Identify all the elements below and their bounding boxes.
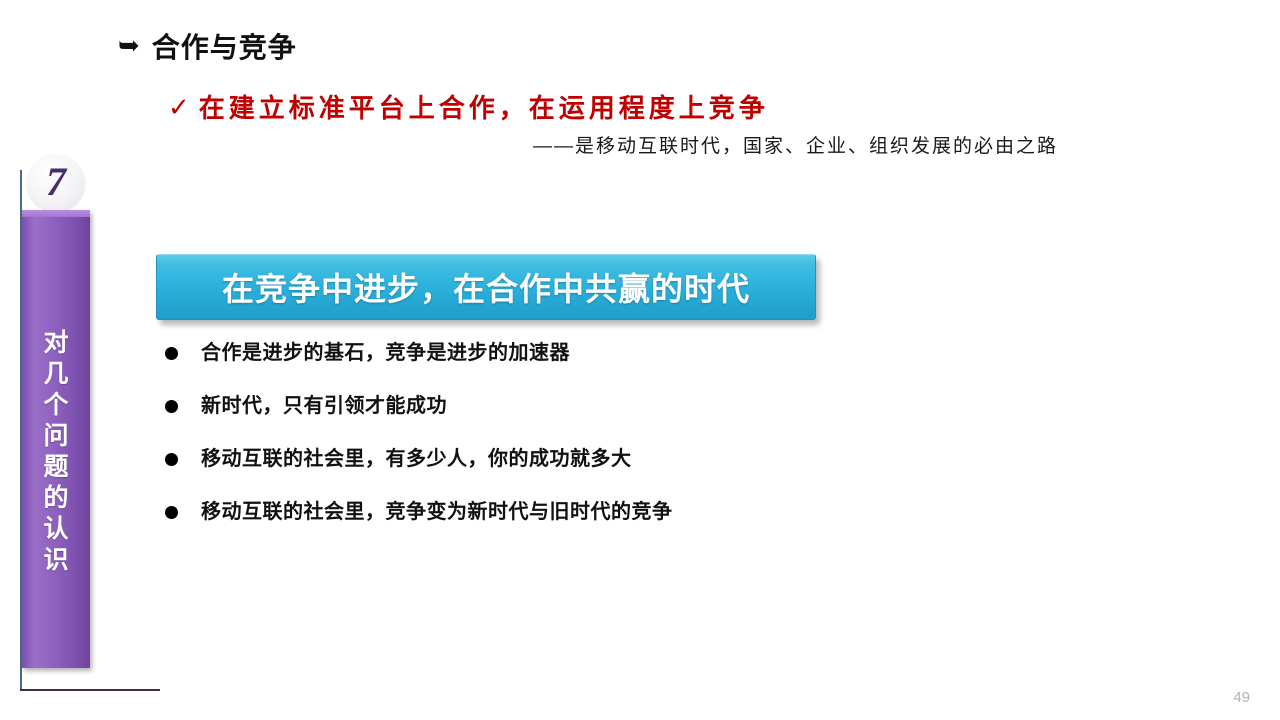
list-item: 新时代，只有引领才能成功: [165, 393, 865, 446]
slide-canvas: 7 对 几 个 问 题 的 认 识 ➥ 合作与竞争 ✓ 在建立标准平台上合作，在…: [0, 0, 1280, 720]
sidebar-section-bar: 对 几 个 问 题 的 认 识: [22, 210, 90, 668]
subtitle-note: ——是移动互联时代，国家、企业、组织发展的必由之路: [533, 131, 1058, 158]
bullet-dot-icon: [165, 347, 178, 360]
list-item: 移动互联的社会里，有多少人，你的成功就多大: [165, 446, 865, 499]
sidebar-section-label: 对 几 个 问 题 的 认 识: [22, 328, 90, 576]
list-item: 合作是进步的基石，竞争是进步的加速器: [165, 340, 865, 393]
bottom-rail-horizontal-line: [20, 689, 160, 691]
highlight-banner-text: 在竞争中进步，在合作中共赢的时代: [222, 264, 750, 310]
list-item: 移动互联的社会里，竞争变为新时代与旧时代的竞争: [165, 499, 865, 552]
section-number-badge: 7: [28, 155, 84, 211]
bullet-dot-icon: [165, 506, 178, 519]
red-statement-text: 在建立标准平台上合作，在运用程度上竞争: [199, 88, 769, 125]
list-item-label: 移动互联的社会里，竞争变为新时代与旧时代的竞争: [201, 499, 673, 526]
list-item-label: 移动互联的社会里，有多少人，你的成功就多大: [201, 446, 632, 473]
page-number: 49: [1233, 689, 1250, 706]
bullet-dot-icon: [165, 453, 178, 466]
list-item-label: 合作是进步的基石，竞争是进步的加速器: [201, 340, 570, 367]
highlight-banner: 在竞争中进步，在合作中共赢的时代: [156, 254, 816, 320]
arrow-bullet-icon: ➥: [118, 32, 140, 58]
bullet-list: 合作是进步的基石，竞争是进步的加速器 新时代，只有引领才能成功 移动互联的社会里…: [165, 340, 865, 552]
page-title: ➥ 合作与竞争: [118, 26, 297, 66]
list-item-label: 新时代，只有引领才能成功: [201, 393, 447, 420]
checkmark-icon: ✓: [168, 94, 190, 120]
bullet-dot-icon: [165, 400, 178, 413]
sidebar-bar-highlight: [22, 210, 90, 217]
red-statement: ✓ 在建立标准平台上合作，在运用程度上竞争: [168, 88, 769, 125]
section-number-value: 7: [46, 162, 66, 202]
page-title-text: 合作与竞争: [152, 26, 297, 66]
